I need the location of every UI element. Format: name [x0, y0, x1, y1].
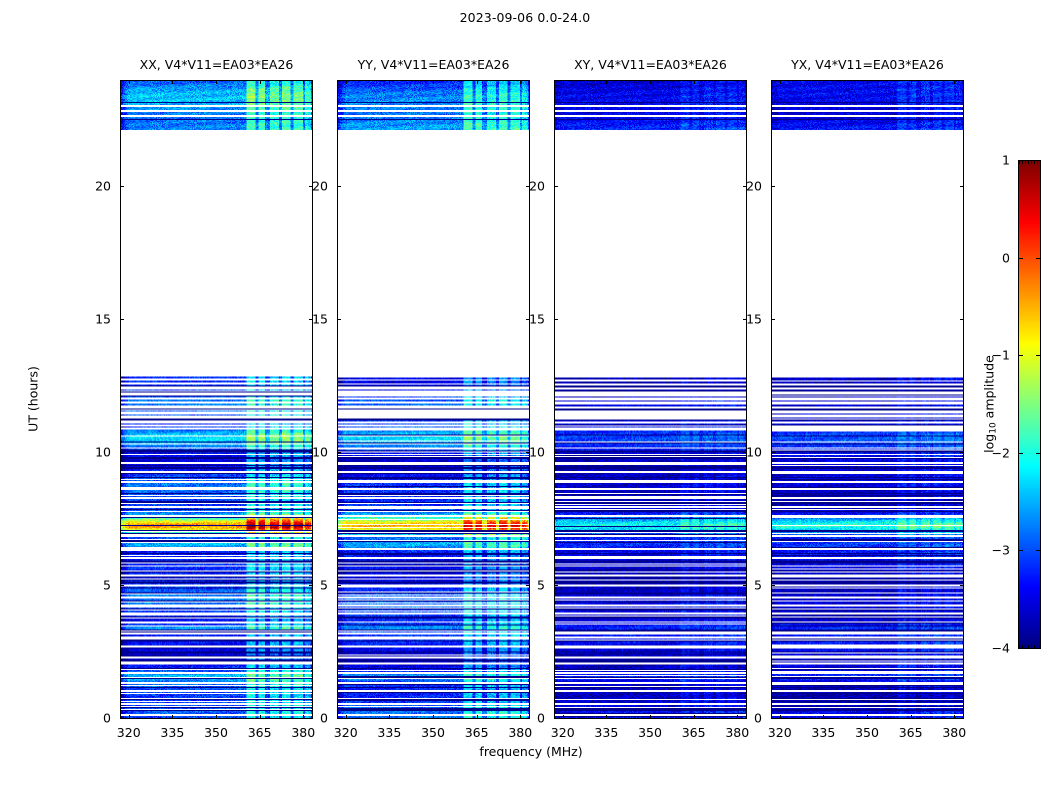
y-tick-label: 20 [95, 179, 111, 194]
y-tick-label: 5 [320, 578, 328, 593]
x-tick-label: 335 [811, 725, 835, 740]
waterfall-image-yx [772, 81, 963, 718]
x-tick-mark [694, 715, 695, 719]
axes-frame-xx [120, 80, 313, 719]
x-tick-mark-top [650, 80, 651, 84]
y-tick-mark [554, 186, 558, 187]
y-tick-mark-right [960, 718, 964, 719]
y-tick-mark [337, 452, 341, 453]
x-tick-mark-top [346, 80, 347, 84]
x-tick-mark [737, 715, 738, 719]
y-tick-label: 20 [746, 179, 762, 194]
x-tick-mark-top [389, 80, 390, 84]
y-tick-label: 0 [754, 711, 762, 726]
x-tick-mark [433, 715, 434, 719]
x-tick-mark [389, 715, 390, 719]
y-tick-mark [771, 718, 775, 719]
x-tick-label: 365 [899, 725, 923, 740]
x-tick-mark [911, 715, 912, 719]
x-tick-mark [780, 715, 781, 719]
colorbar-tick-mark [1018, 453, 1023, 454]
colorbar-tick-mark-right [1036, 550, 1041, 551]
colorbar-tick-mark-right [1036, 453, 1041, 454]
y-tick-label: 10 [95, 445, 111, 460]
panel-title-xx: XX, V4*V11=EA03*EA26 [106, 57, 327, 72]
colorbar-gradient [1019, 161, 1040, 648]
x-tick-label: 350 [204, 725, 228, 740]
y-tick-label: 20 [529, 179, 545, 194]
x-tick-mark-top [477, 80, 478, 84]
y-tick-mark [554, 585, 558, 586]
colorbar-tick-mark-right [1036, 258, 1041, 259]
y-tick-mark-right [960, 319, 964, 320]
y-tick-mark-right [526, 718, 530, 719]
y-tick-mark [554, 319, 558, 320]
panel-title-yy: YY, V4*V11=EA03*EA26 [323, 57, 544, 72]
colorbar: −4−3−2−101 [1018, 160, 1041, 649]
y-tick-mark [120, 186, 124, 187]
x-axis-label: frequency (MHz) [479, 744, 582, 759]
x-tick-label: 380 [725, 725, 749, 740]
y-tick-mark-right [960, 452, 964, 453]
x-tick-mark-top [216, 80, 217, 84]
x-tick-mark [867, 715, 868, 719]
colorbar-tick-mark-right [1036, 355, 1041, 356]
colorbar-tick-label: −4 [992, 641, 1010, 656]
x-tick-mark [172, 715, 173, 719]
x-tick-mark-top [129, 80, 130, 84]
x-tick-label: 335 [160, 725, 184, 740]
waterfall-image-xx [121, 81, 312, 718]
y-tick-label: 15 [529, 312, 545, 327]
colorbar-extend-marker [1019, 645, 1040, 648]
y-tick-label: 5 [754, 578, 762, 593]
x-tick-label: 380 [942, 725, 966, 740]
y-tick-label: 10 [529, 445, 545, 460]
y-tick-mark [120, 718, 124, 719]
x-tick-mark-top [954, 80, 955, 84]
x-tick-label: 365 [465, 725, 489, 740]
y-tick-mark [337, 718, 341, 719]
x-tick-label: 320 [768, 725, 792, 740]
y-tick-mark [771, 585, 775, 586]
x-tick-mark [129, 715, 130, 719]
y-tick-label: 0 [103, 711, 111, 726]
x-tick-label: 380 [508, 725, 532, 740]
y-tick-mark [554, 718, 558, 719]
axes-frame-yy [337, 80, 530, 719]
x-tick-mark-top [694, 80, 695, 84]
x-tick-mark [477, 715, 478, 719]
y-tick-mark-right [526, 585, 530, 586]
y-tick-mark [337, 585, 341, 586]
colorbar-tick-label: −3 [992, 543, 1010, 558]
x-tick-mark [606, 715, 607, 719]
y-tick-mark [120, 319, 124, 320]
y-tick-mark-right [743, 718, 747, 719]
x-tick-mark-top [911, 80, 912, 84]
y-tick-label: 15 [746, 312, 762, 327]
y-tick-mark-right [309, 718, 313, 719]
colorbar-label-log: log [982, 434, 997, 453]
y-tick-label: 20 [312, 179, 328, 194]
x-tick-label: 335 [377, 725, 401, 740]
x-tick-mark-top [520, 80, 521, 84]
x-tick-mark-top [867, 80, 868, 84]
figure-canvas: 2023-09-06 0.0-24.0 XX, V4*V11=EA03*EA26… [0, 0, 1050, 800]
y-tick-label: 5 [103, 578, 111, 593]
x-tick-mark-top [260, 80, 261, 84]
colorbar-label-sub: 10 [989, 422, 999, 433]
x-tick-mark-top [737, 80, 738, 84]
colorbar-frame [1018, 160, 1041, 649]
colorbar-tick-label: 0 [1002, 250, 1010, 265]
panel-title-yx: YX, V4*V11=EA03*EA26 [757, 57, 978, 72]
y-tick-mark [337, 319, 341, 320]
colorbar-tick-mark-right [1036, 648, 1041, 649]
x-tick-mark [303, 715, 304, 719]
waterfall-panel-xx[interactable]: XX, V4*V11=EA03*EA2605101520320335350365… [120, 80, 313, 719]
x-tick-label: 320 [117, 725, 141, 740]
waterfall-image-yy [338, 81, 529, 718]
axes-frame-yx [771, 80, 964, 719]
x-tick-mark-top [780, 80, 781, 84]
x-tick-mark [260, 715, 261, 719]
x-tick-label: 320 [551, 725, 575, 740]
waterfall-image-xy [555, 81, 746, 718]
x-tick-mark [346, 715, 347, 719]
x-tick-mark-top [303, 80, 304, 84]
x-tick-label: 365 [248, 725, 272, 740]
y-tick-mark [337, 186, 341, 187]
y-tick-label: 15 [95, 312, 111, 327]
x-tick-label: 320 [334, 725, 358, 740]
colorbar-tick-mark [1018, 550, 1023, 551]
y-tick-label: 10 [746, 445, 762, 460]
x-tick-mark [520, 715, 521, 719]
x-tick-label: 380 [291, 725, 315, 740]
figure-suptitle: 2023-09-06 0.0-24.0 [0, 10, 1050, 25]
waterfall-panel-xy[interactable]: XY, V4*V11=EA03*EA2605101520320335350365… [554, 80, 747, 719]
colorbar-tick-label: 1 [1002, 153, 1010, 168]
x-tick-mark [823, 715, 824, 719]
y-tick-label: 0 [320, 711, 328, 726]
x-tick-mark [954, 715, 955, 719]
x-tick-mark-top [606, 80, 607, 84]
x-tick-mark [563, 715, 564, 719]
y-tick-mark-right [960, 186, 964, 187]
y-tick-label: 10 [312, 445, 328, 460]
waterfall-panel-yx[interactable]: YX, V4*V11=EA03*EA2605101520320335350365… [771, 80, 964, 719]
y-tick-label: 5 [537, 578, 545, 593]
y-tick-mark [771, 452, 775, 453]
y-tick-mark-right [960, 585, 964, 586]
colorbar-label-tail: amplitude [982, 355, 997, 422]
y-tick-mark-right [743, 585, 747, 586]
x-tick-mark-top [172, 80, 173, 84]
x-tick-label: 350 [855, 725, 879, 740]
y-tick-mark [120, 585, 124, 586]
y-tick-label: 0 [537, 711, 545, 726]
x-tick-mark [650, 715, 651, 719]
x-tick-label: 350 [638, 725, 662, 740]
y-tick-label: 15 [312, 312, 328, 327]
x-tick-label: 350 [421, 725, 445, 740]
waterfall-panel-yy[interactable]: YY, V4*V11=EA03*EA2605101520320335350365… [337, 80, 530, 719]
x-tick-mark-top [433, 80, 434, 84]
x-tick-label: 335 [594, 725, 618, 740]
y-tick-mark [771, 186, 775, 187]
y-axis-label: UT (hours) [26, 366, 41, 432]
y-tick-mark [120, 452, 124, 453]
colorbar-tick-mark [1018, 355, 1023, 356]
y-tick-mark [771, 319, 775, 320]
colorbar-extend-marker [1019, 161, 1040, 164]
x-tick-mark [216, 715, 217, 719]
colorbar-axis-label: log10 amplitude [982, 355, 997, 453]
axes-frame-xy [554, 80, 747, 719]
y-tick-mark [554, 452, 558, 453]
x-tick-mark-top [563, 80, 564, 84]
x-tick-label: 365 [682, 725, 706, 740]
colorbar-tick-mark [1018, 258, 1023, 259]
x-tick-mark-top [823, 80, 824, 84]
panel-title-xy: XY, V4*V11=EA03*EA26 [540, 57, 761, 72]
y-tick-mark-right [309, 585, 313, 586]
colorbar-tick-mark [1018, 648, 1023, 649]
